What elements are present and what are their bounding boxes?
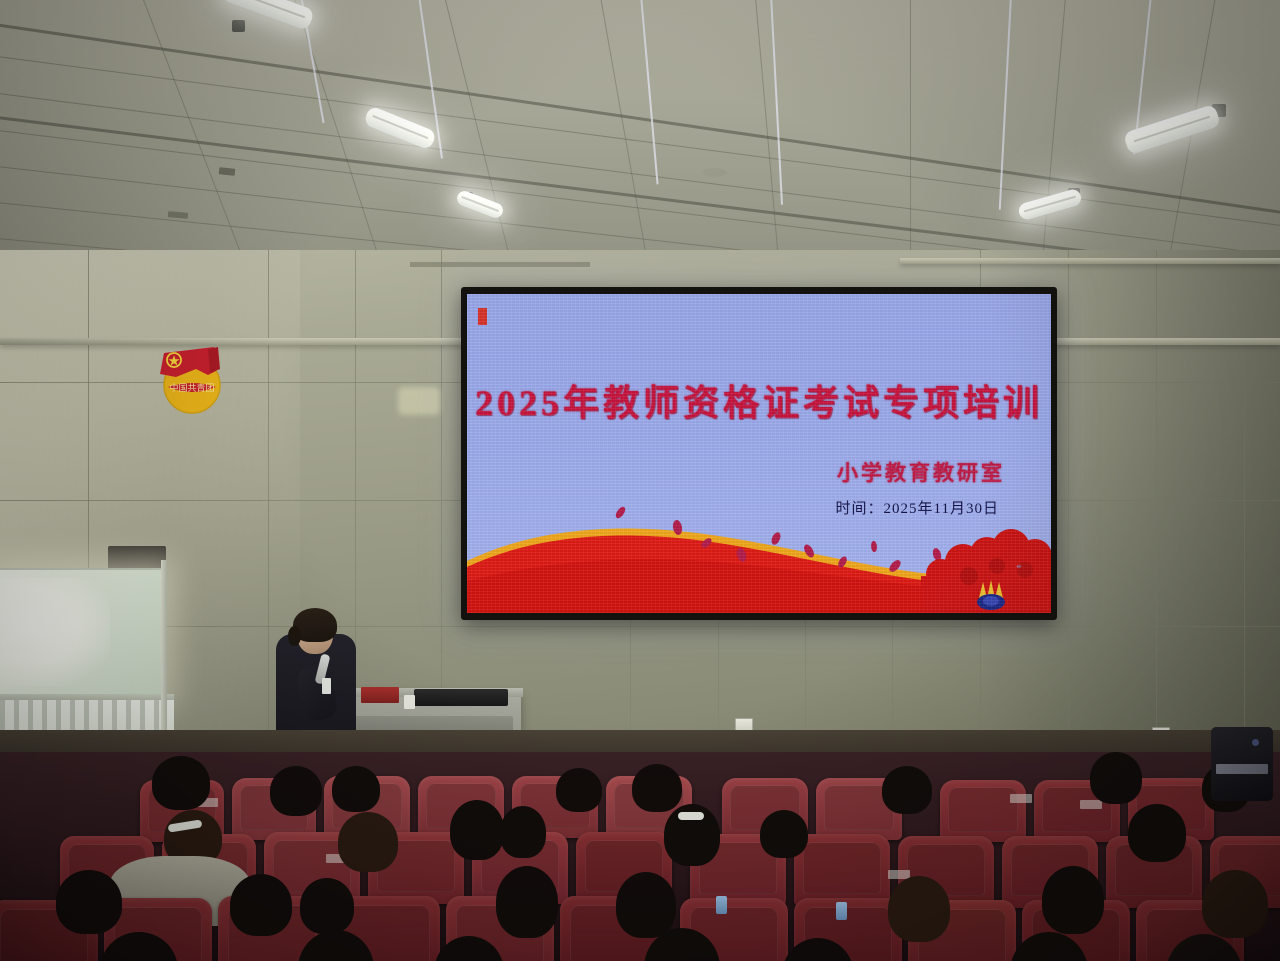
seat-number-tag (1010, 794, 1032, 803)
led-display-screen[interactable]: 2025年教师资格证考试专项培训 小学教育教研室 时间：2025年11月30日 (461, 287, 1057, 620)
slide-canvas: 2025年教师资格证考试专项培训 小学教育教研室 时间：2025年11月30日 (467, 294, 1051, 613)
seat-number-tag (1080, 800, 1102, 809)
lectern-red-object[interactable] (361, 687, 399, 703)
seat[interactable] (794, 834, 890, 906)
wall-ledge-right (900, 258, 1280, 264)
microphone-badge (322, 678, 331, 694)
ceiling-lamp (455, 189, 505, 220)
audience-head (632, 764, 682, 812)
slide-date: 时间：2025年11月30日 (836, 497, 999, 518)
window-glare (0, 578, 110, 686)
audience-head (556, 768, 602, 812)
pa-speaker-label (1216, 764, 1268, 774)
audience-head (450, 800, 504, 860)
lamp-mount (232, 20, 245, 32)
audience-head (1202, 870, 1268, 938)
screen-corner-marker (478, 308, 487, 325)
ceiling-vent (168, 211, 188, 219)
audience-head (1042, 866, 1104, 934)
audience-hair-band (678, 812, 704, 820)
audience-head (270, 766, 322, 816)
slide-subtitle: 小学教育教研室 (837, 457, 1005, 487)
ceiling (0, 0, 1280, 292)
audience-head (1090, 752, 1142, 804)
svg-text:中国共青团: 中国共青团 (169, 382, 214, 393)
youth-league-emblem-icon: 中国共青团 (152, 341, 228, 415)
smoke-detector-icon (703, 168, 727, 177)
audience-head (500, 806, 546, 858)
auditorium-photo: 中国共青团 2025年教师资格证考试专项培训 小学教育教研室 时间：2025年1… (0, 0, 1280, 961)
audience-head (888, 876, 950, 942)
audience-head (338, 812, 398, 872)
wall-light-reflection (398, 387, 440, 415)
ceiling-vent (219, 167, 236, 176)
audience-head (496, 866, 558, 938)
audience-head (760, 810, 808, 858)
audience-head (56, 870, 122, 934)
audience-head (616, 872, 676, 938)
slide-title: 2025年教师资格证考试专项培训 (467, 374, 1051, 426)
audience-head (1128, 804, 1186, 862)
lectern-monitor[interactable] (414, 689, 508, 706)
wall-conduit (410, 262, 590, 267)
seat[interactable] (940, 780, 1026, 842)
audience-head (882, 766, 932, 814)
audience-head (152, 756, 210, 810)
audience-seating (0, 752, 1280, 961)
curtain-valance (108, 546, 166, 569)
lectern-white-object[interactable] (404, 695, 415, 709)
audience-head (300, 878, 354, 934)
smartphone[interactable] (716, 896, 727, 914)
smartphone[interactable] (836, 902, 847, 920)
pa-speaker-indicator-icon (1252, 739, 1259, 746)
blossom-cluster-decoration (921, 518, 1051, 613)
presenter-hair-bun (288, 626, 301, 646)
audience-head (230, 874, 292, 936)
audience-head (332, 766, 380, 812)
